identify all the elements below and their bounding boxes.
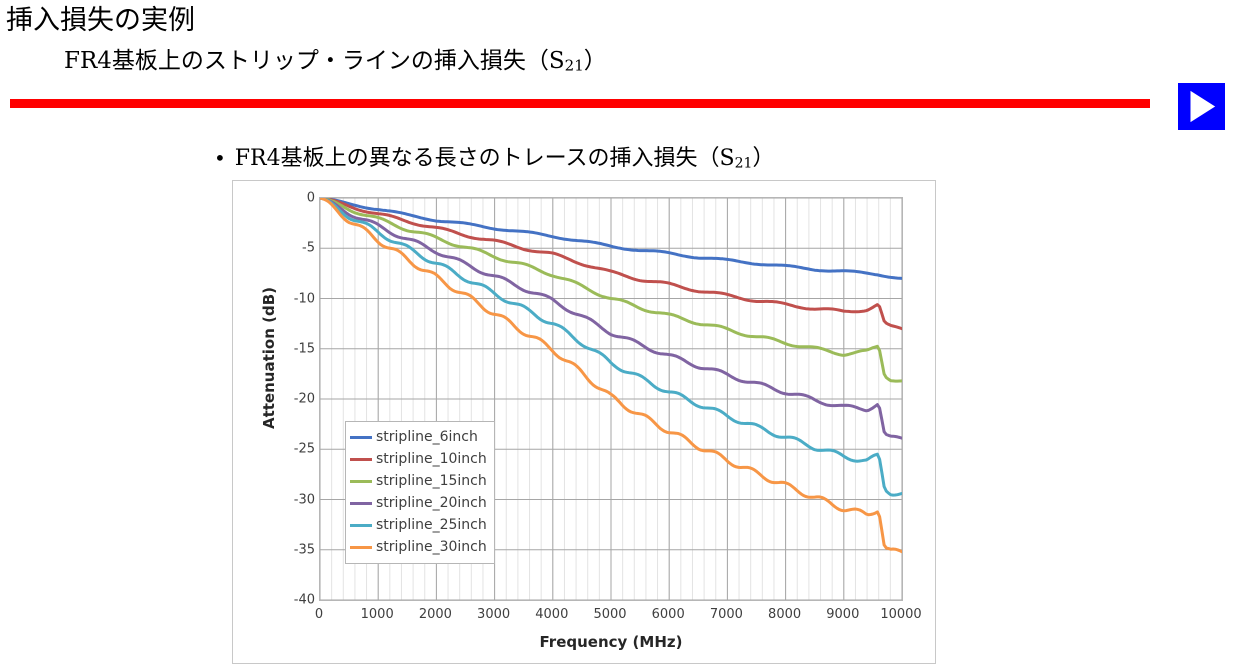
page-subtitle: FR4基板上のストリップ・ラインの挿入損失（S21） [64, 46, 607, 81]
page-title-text: 挿入損失の実例 [6, 5, 195, 36]
legend-item-label: stripline_20inch [376, 495, 487, 511]
legend-item[interactable]: stripline_6inch [350, 426, 487, 448]
x-axis-tick-label: 10000 [866, 607, 936, 622]
chart-plot-wrapper: Attenuation (dB) Frequency (MHz) 0-5-10-… [233, 181, 935, 663]
legend-color-swatch [350, 546, 372, 549]
page-title: 挿入損失の実例 [6, 4, 195, 38]
bullet-text: FR4基板上の異なる長さのトレースの挿入損失（S21） [235, 144, 775, 179]
page-subtitle-subscript: 21 [565, 57, 584, 75]
page-subtitle-tail: ） [584, 48, 607, 74]
legend-color-swatch [350, 480, 372, 483]
legend-color-swatch [350, 458, 372, 461]
chart-legend: stripline_6inchstripline_10inchstripline… [345, 421, 495, 564]
y-axis-tick-label: -20 [269, 392, 315, 407]
bullet-list-item: • FR4基板上の異なる長さのトレースの挿入損失（S21） [214, 143, 774, 179]
legend-item-label: stripline_30inch [376, 539, 487, 555]
legend-item[interactable]: stripline_20inch [350, 492, 487, 514]
y-axis-tick-label: 0 [269, 191, 315, 206]
bullet-marker-icon: • [214, 143, 226, 173]
y-axis-tick-label: -25 [269, 442, 315, 457]
x-axis-tick-labels: 0100020003000400050006000700080009000100… [319, 607, 903, 627]
title-divider-rule [10, 99, 1150, 108]
legend-item[interactable]: stripline_25inch [350, 514, 487, 536]
legend-color-swatch [350, 502, 372, 505]
legend-item[interactable]: stripline_15inch [350, 470, 487, 492]
legend-item[interactable]: stripline_30inch [350, 536, 487, 558]
y-axis-tick-label: -35 [269, 542, 315, 557]
x-axis-title: Frequency (MHz) [319, 633, 903, 651]
play-triangle-icon [1178, 83, 1225, 130]
y-axis-tick-labels: 0-5-10-15-20-25-30-35-40 [257, 197, 315, 601]
y-axis-tick-label: -10 [269, 291, 315, 306]
y-axis-tick-label: -15 [269, 341, 315, 356]
legend-item-label: stripline_15inch [376, 473, 487, 489]
insertion-loss-chart[interactable]: Attenuation (dB) Frequency (MHz) 0-5-10-… [232, 180, 936, 664]
legend-item-label: stripline_6inch [376, 429, 478, 445]
bullet-text-subscript: 21 [735, 156, 753, 172]
y-axis-tick-label: -5 [269, 241, 315, 256]
y-axis-tick-label: -40 [269, 593, 315, 608]
legend-color-swatch [350, 524, 372, 527]
y-axis-tick-label: -30 [269, 492, 315, 507]
page-subtitle-text: FR4基板上のストリップ・ラインの挿入損失（S [64, 48, 565, 74]
legend-item-label: stripline_10inch [376, 451, 487, 467]
bullet-text-main: FR4基板上の異なる長さのトレースの挿入損失（S [235, 146, 735, 171]
legend-color-swatch [350, 436, 372, 439]
legend-item[interactable]: stripline_10inch [350, 448, 487, 470]
play-forward-button[interactable] [1178, 83, 1225, 130]
legend-item-label: stripline_25inch [376, 517, 487, 533]
bullet-text-tail: ） [752, 146, 774, 171]
